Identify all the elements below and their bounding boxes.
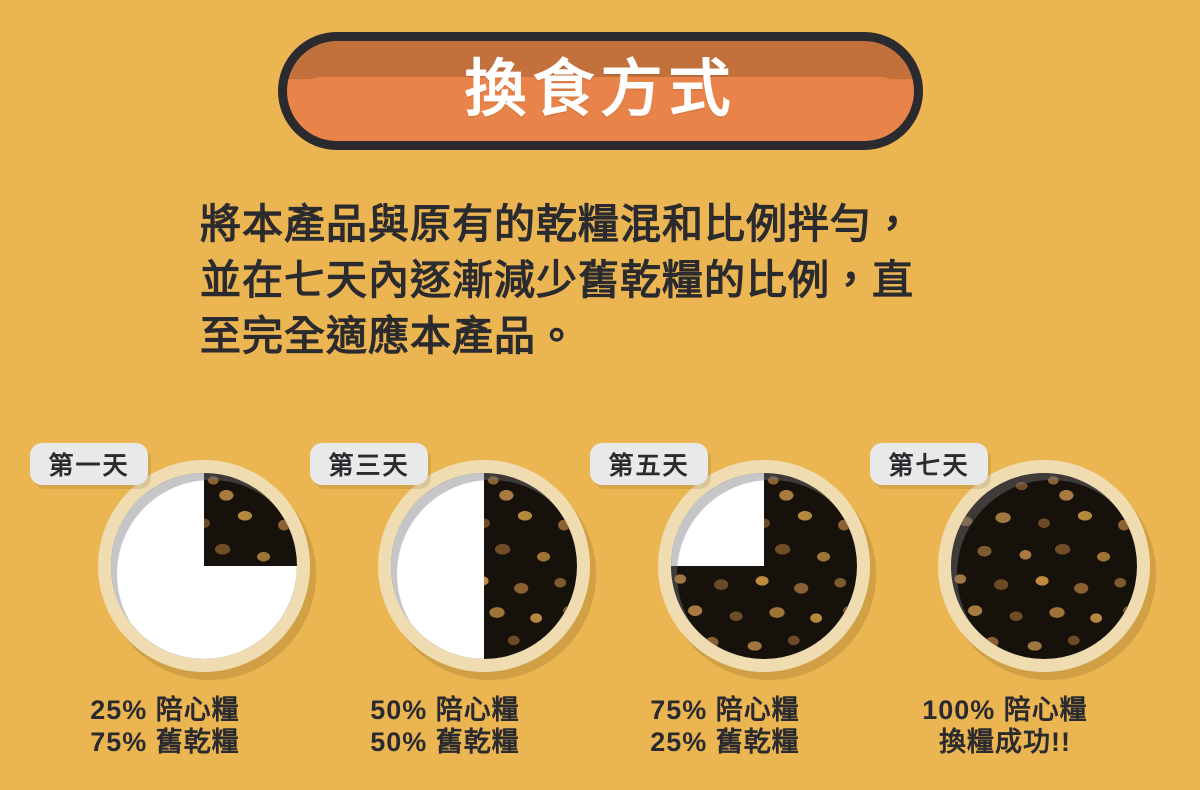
day-label-badge-1: 第一天 <box>30 443 148 485</box>
infographic-poster: 換食方式 將本產品與原有的乾糧混和比例拌勻， 並在七天內逐漸減少舊乾糧的比例，直… <box>0 0 1200 790</box>
title-banner: 換食方式 <box>278 32 923 150</box>
step-day-7: 第七天 100% 陪心糧 換糧成功!! <box>865 436 1145 776</box>
caption-old-food-4: 換糧成功!! <box>865 726 1145 758</box>
step-caption-3: 75% 陪心糧 25% 舊乾糧 <box>585 694 865 758</box>
step-day-1: 第一天 25% 陪心糧 75% 舊乾糧 <box>25 436 305 776</box>
food-bowl-3 <box>658 460 870 672</box>
food-bowl-1 <box>98 460 310 672</box>
bowl-contents-3 <box>671 473 857 659</box>
day-label-badge-2: 第三天 <box>310 443 428 485</box>
caption-old-food-3: 25% 舊乾糧 <box>585 726 865 758</box>
caption-old-food-1: 75% 舊乾糧 <box>25 726 305 758</box>
food-bowl-2 <box>378 460 590 672</box>
bowl-contents-4 <box>951 473 1137 659</box>
steps-row: 第一天 25% 陪心糧 75% 舊乾糧 第三天 <box>0 436 1200 776</box>
instructions-paragraph: 將本產品與原有的乾糧混和比例拌勻， 並在七天內逐漸減少舊乾糧的比例，直 至完全適… <box>200 196 1020 364</box>
bowl-contents-1 <box>111 473 297 659</box>
day-label-text-4: 第七天 <box>888 446 969 482</box>
instructions-line-1: 將本產品與原有的乾糧混和比例拌勻， <box>200 196 1020 252</box>
bowl-contents-2 <box>391 473 577 659</box>
day-label-text-3: 第五天 <box>608 446 689 482</box>
instructions-line-3: 至完全適應本產品。 <box>200 308 1020 364</box>
caption-new-food-4: 100% 陪心糧 <box>865 694 1145 726</box>
step-caption-1: 25% 陪心糧 75% 舊乾糧 <box>25 694 305 758</box>
day-label-text-2: 第三天 <box>328 446 409 482</box>
day-label-badge-4: 第七天 <box>870 443 988 485</box>
caption-new-food-2: 50% 陪心糧 <box>305 694 585 726</box>
instructions-line-2: 並在七天內逐漸減少舊乾糧的比例，直 <box>200 252 1020 308</box>
step-caption-2: 50% 陪心糧 50% 舊乾糧 <box>305 694 585 758</box>
step-caption-4: 100% 陪心糧 換糧成功!! <box>865 694 1145 758</box>
caption-old-food-2: 50% 舊乾糧 <box>305 726 585 758</box>
caption-new-food-3: 75% 陪心糧 <box>585 694 865 726</box>
page-title: 換食方式 <box>278 32 923 150</box>
food-bowl-4 <box>938 460 1150 672</box>
caption-new-food-1: 25% 陪心糧 <box>25 694 305 726</box>
day-label-text-1: 第一天 <box>48 446 129 482</box>
kibble-texture-4 <box>951 473 1137 659</box>
day-label-badge-3: 第五天 <box>590 443 708 485</box>
step-day-5: 第五天 75% 陪心糧 25% 舊乾糧 <box>585 436 865 776</box>
step-day-3: 第三天 50% 陪心糧 50% 舊乾糧 <box>305 436 585 776</box>
